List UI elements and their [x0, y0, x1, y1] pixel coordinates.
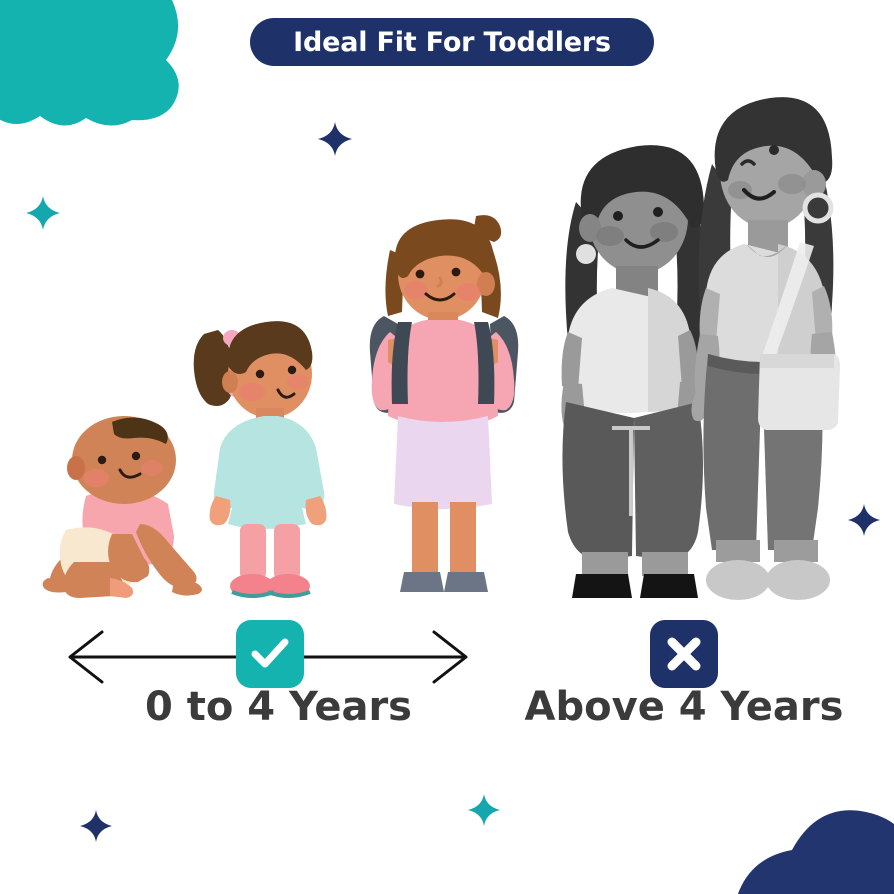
rejected-cross-badge [650, 620, 718, 688]
caption-age-range-rejected: Above 4 Years [524, 684, 844, 730]
figure-crawling-baby [40, 412, 210, 609]
sparkle-bottom-mid-icon [468, 794, 500, 831]
infographic-canvas: Ideal Fit For Toddlers [0, 0, 894, 894]
approved-check-badge [236, 620, 304, 688]
figure-adult-woman-two [682, 88, 858, 605]
cloud-top-left-decoration [0, 0, 204, 139]
sparkle-left-upper-icon [26, 196, 60, 235]
page-title-banner: Ideal Fit For Toddlers [250, 18, 654, 66]
cloud-bottom-right-decoration [700, 806, 894, 894]
figure-school-girl [354, 212, 534, 605]
figure-toddler-girl [186, 312, 350, 605]
sparkle-bottom-left-icon [80, 810, 112, 847]
cross-icon [664, 634, 704, 674]
sparkle-title-under-icon [318, 122, 352, 161]
check-icon [249, 633, 291, 675]
figure-adult-woman-one [552, 132, 728, 605]
page-title: Ideal Fit For Toddlers [293, 27, 611, 58]
caption-age-range-approved: 0 to 4 Years [145, 684, 397, 730]
sparkle-right-mid-icon [848, 504, 880, 541]
